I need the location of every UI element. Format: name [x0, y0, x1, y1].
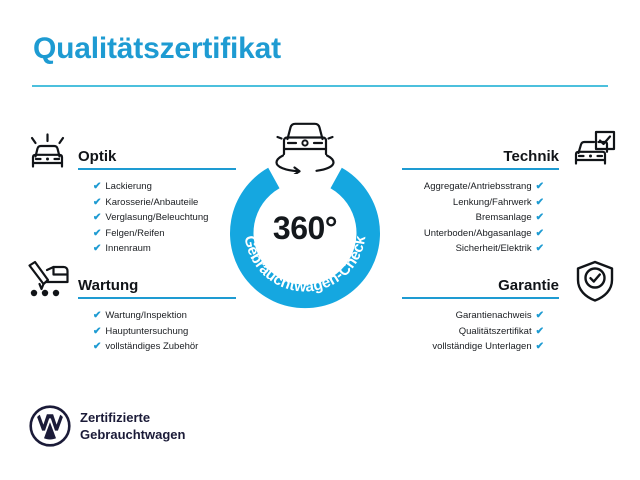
footer-brand-line1: Zertifizierte [80, 409, 185, 426]
list-item-label: Hauptuntersuchung [105, 326, 188, 337]
list-item-label: Qualitätszertifikat [459, 326, 532, 337]
section-wartung-title: Wartung [78, 277, 138, 294]
list-item: ✔vollständiges Zubehör [93, 339, 236, 355]
section-technik-divider [402, 168, 559, 170]
section-garantie: Garantie Garantienachweis✔ Qualitätszert… [402, 269, 559, 355]
list-item: Garantienachweis✔ [402, 308, 544, 324]
list-item: ✔Wartung/Inspektion [93, 308, 236, 324]
section-optik: Optik ✔Lackierung ✔Karosserie/Anbauteile… [78, 140, 236, 257]
list-item-label: Lackierung [105, 181, 151, 192]
header-divider [32, 85, 608, 87]
check-icon: ✔ [93, 197, 101, 208]
list-item: Qualitätszertifikat✔ [402, 324, 544, 340]
car-rotate-icon [271, 112, 339, 179]
list-item-label: Felgen/Reifen [105, 228, 164, 239]
list-item-label: Lenkung/Fahrwerk [453, 197, 532, 208]
section-technik: Technik Aggregate/Antriebsstrang✔ Lenkun… [402, 140, 559, 257]
check-icon: ✔ [93, 341, 101, 352]
section-wartung-divider [78, 297, 236, 299]
section-optik-title: Optik [78, 148, 116, 165]
page-title: Qualitätszertifikat [33, 32, 281, 66]
check-icon: ✔ [93, 310, 101, 321]
list-item: ✔Hauptuntersuchung [93, 324, 236, 340]
list-item-label: Bremsanlage [476, 212, 532, 223]
car-checkbox-icon [570, 129, 618, 176]
check-icon: ✔ [536, 310, 544, 321]
list-item-label: Innenraum [105, 243, 150, 254]
list-item: Lenkung/Fahrwerk✔ [402, 195, 544, 211]
list-item: ✔Felgen/Reifen [93, 226, 236, 242]
list-item-label: Sicherheit/Elektrik [456, 243, 532, 254]
list-item: vollständige Unterlagen✔ [402, 339, 544, 355]
check-icon: ✔ [536, 326, 544, 337]
check-icon: ✔ [536, 228, 544, 239]
check-icon: ✔ [536, 212, 544, 223]
section-optik-list: ✔Lackierung ✔Karosserie/Anbauteile ✔Verg… [78, 179, 236, 257]
section-technik-list: Aggregate/Antriebsstrang✔ Lenkung/Fahrwe… [402, 179, 559, 257]
section-garantie-divider [402, 297, 559, 299]
list-item-label: Garantienachweis [456, 310, 532, 321]
section-wartung-list: ✔Wartung/Inspektion ✔Hauptuntersuchung ✔… [78, 308, 236, 355]
list-item: ✔Innenraum [93, 241, 236, 257]
check-icon: ✔ [536, 197, 544, 208]
check-icon: ✔ [536, 341, 544, 352]
quality-certificate-page: Qualitätszertifikat [0, 0, 640, 480]
section-wartung-header: Wartung [78, 269, 236, 299]
list-item-label: vollständige Unterlagen [432, 341, 531, 352]
list-item-label: Unterboden/Abgasanlage [424, 228, 532, 239]
car-shine-icon [25, 130, 71, 177]
badge-center-label: 360° [224, 210, 386, 247]
list-item-label: Aggregate/Antriebsstrang [424, 181, 532, 192]
check-icon: ✔ [93, 228, 101, 239]
list-item: Bremsanlage✔ [402, 210, 544, 226]
vw-logo [29, 405, 71, 452]
check-icon: ✔ [93, 243, 101, 254]
section-garantie-header: Garantie [402, 269, 559, 299]
section-technik-title: Technik [503, 148, 559, 165]
check-icon: ✔ [93, 212, 101, 223]
list-item: ✔Lackierung [93, 179, 236, 195]
section-technik-header: Technik [402, 140, 559, 170]
check-icon: ✔ [536, 181, 544, 192]
list-item-label: vollständiges Zubehör [105, 341, 198, 352]
car-service-pen-icon [23, 259, 73, 308]
footer-brand-text: Zertifizierte Gebrauchtwagen [80, 409, 185, 443]
check-icon: ✔ [93, 181, 101, 192]
list-item: ✔Verglasung/Beleuchtung [93, 210, 236, 226]
list-item: Aggregate/Antriebsstrang✔ [402, 179, 544, 195]
list-item: Sicherheit/Elektrik✔ [402, 241, 544, 257]
check-icon: ✔ [93, 326, 101, 337]
footer-brand-line2: Gebrauchtwagen [80, 426, 185, 443]
list-item-label: Verglasung/Beleuchtung [105, 212, 208, 223]
section-garantie-title: Garantie [498, 277, 559, 294]
section-wartung: Wartung ✔Wartung/Inspektion ✔Hauptunters… [78, 269, 236, 355]
list-item: Unterboden/Abgasanlage✔ [402, 226, 544, 242]
check-icon: ✔ [536, 243, 544, 254]
list-item: ✔Karosserie/Anbauteile [93, 195, 236, 211]
section-optik-divider [78, 168, 236, 170]
list-item-label: Karosserie/Anbauteile [105, 197, 198, 208]
section-garantie-list: Garantienachweis✔ Qualitätszertifikat✔ v… [402, 308, 559, 355]
list-item-label: Wartung/Inspektion [105, 310, 187, 321]
shield-check-icon [574, 259, 616, 308]
360-check-badge: Gebrauchtwagen-Check [224, 112, 418, 312]
section-optik-header: Optik [78, 140, 236, 170]
